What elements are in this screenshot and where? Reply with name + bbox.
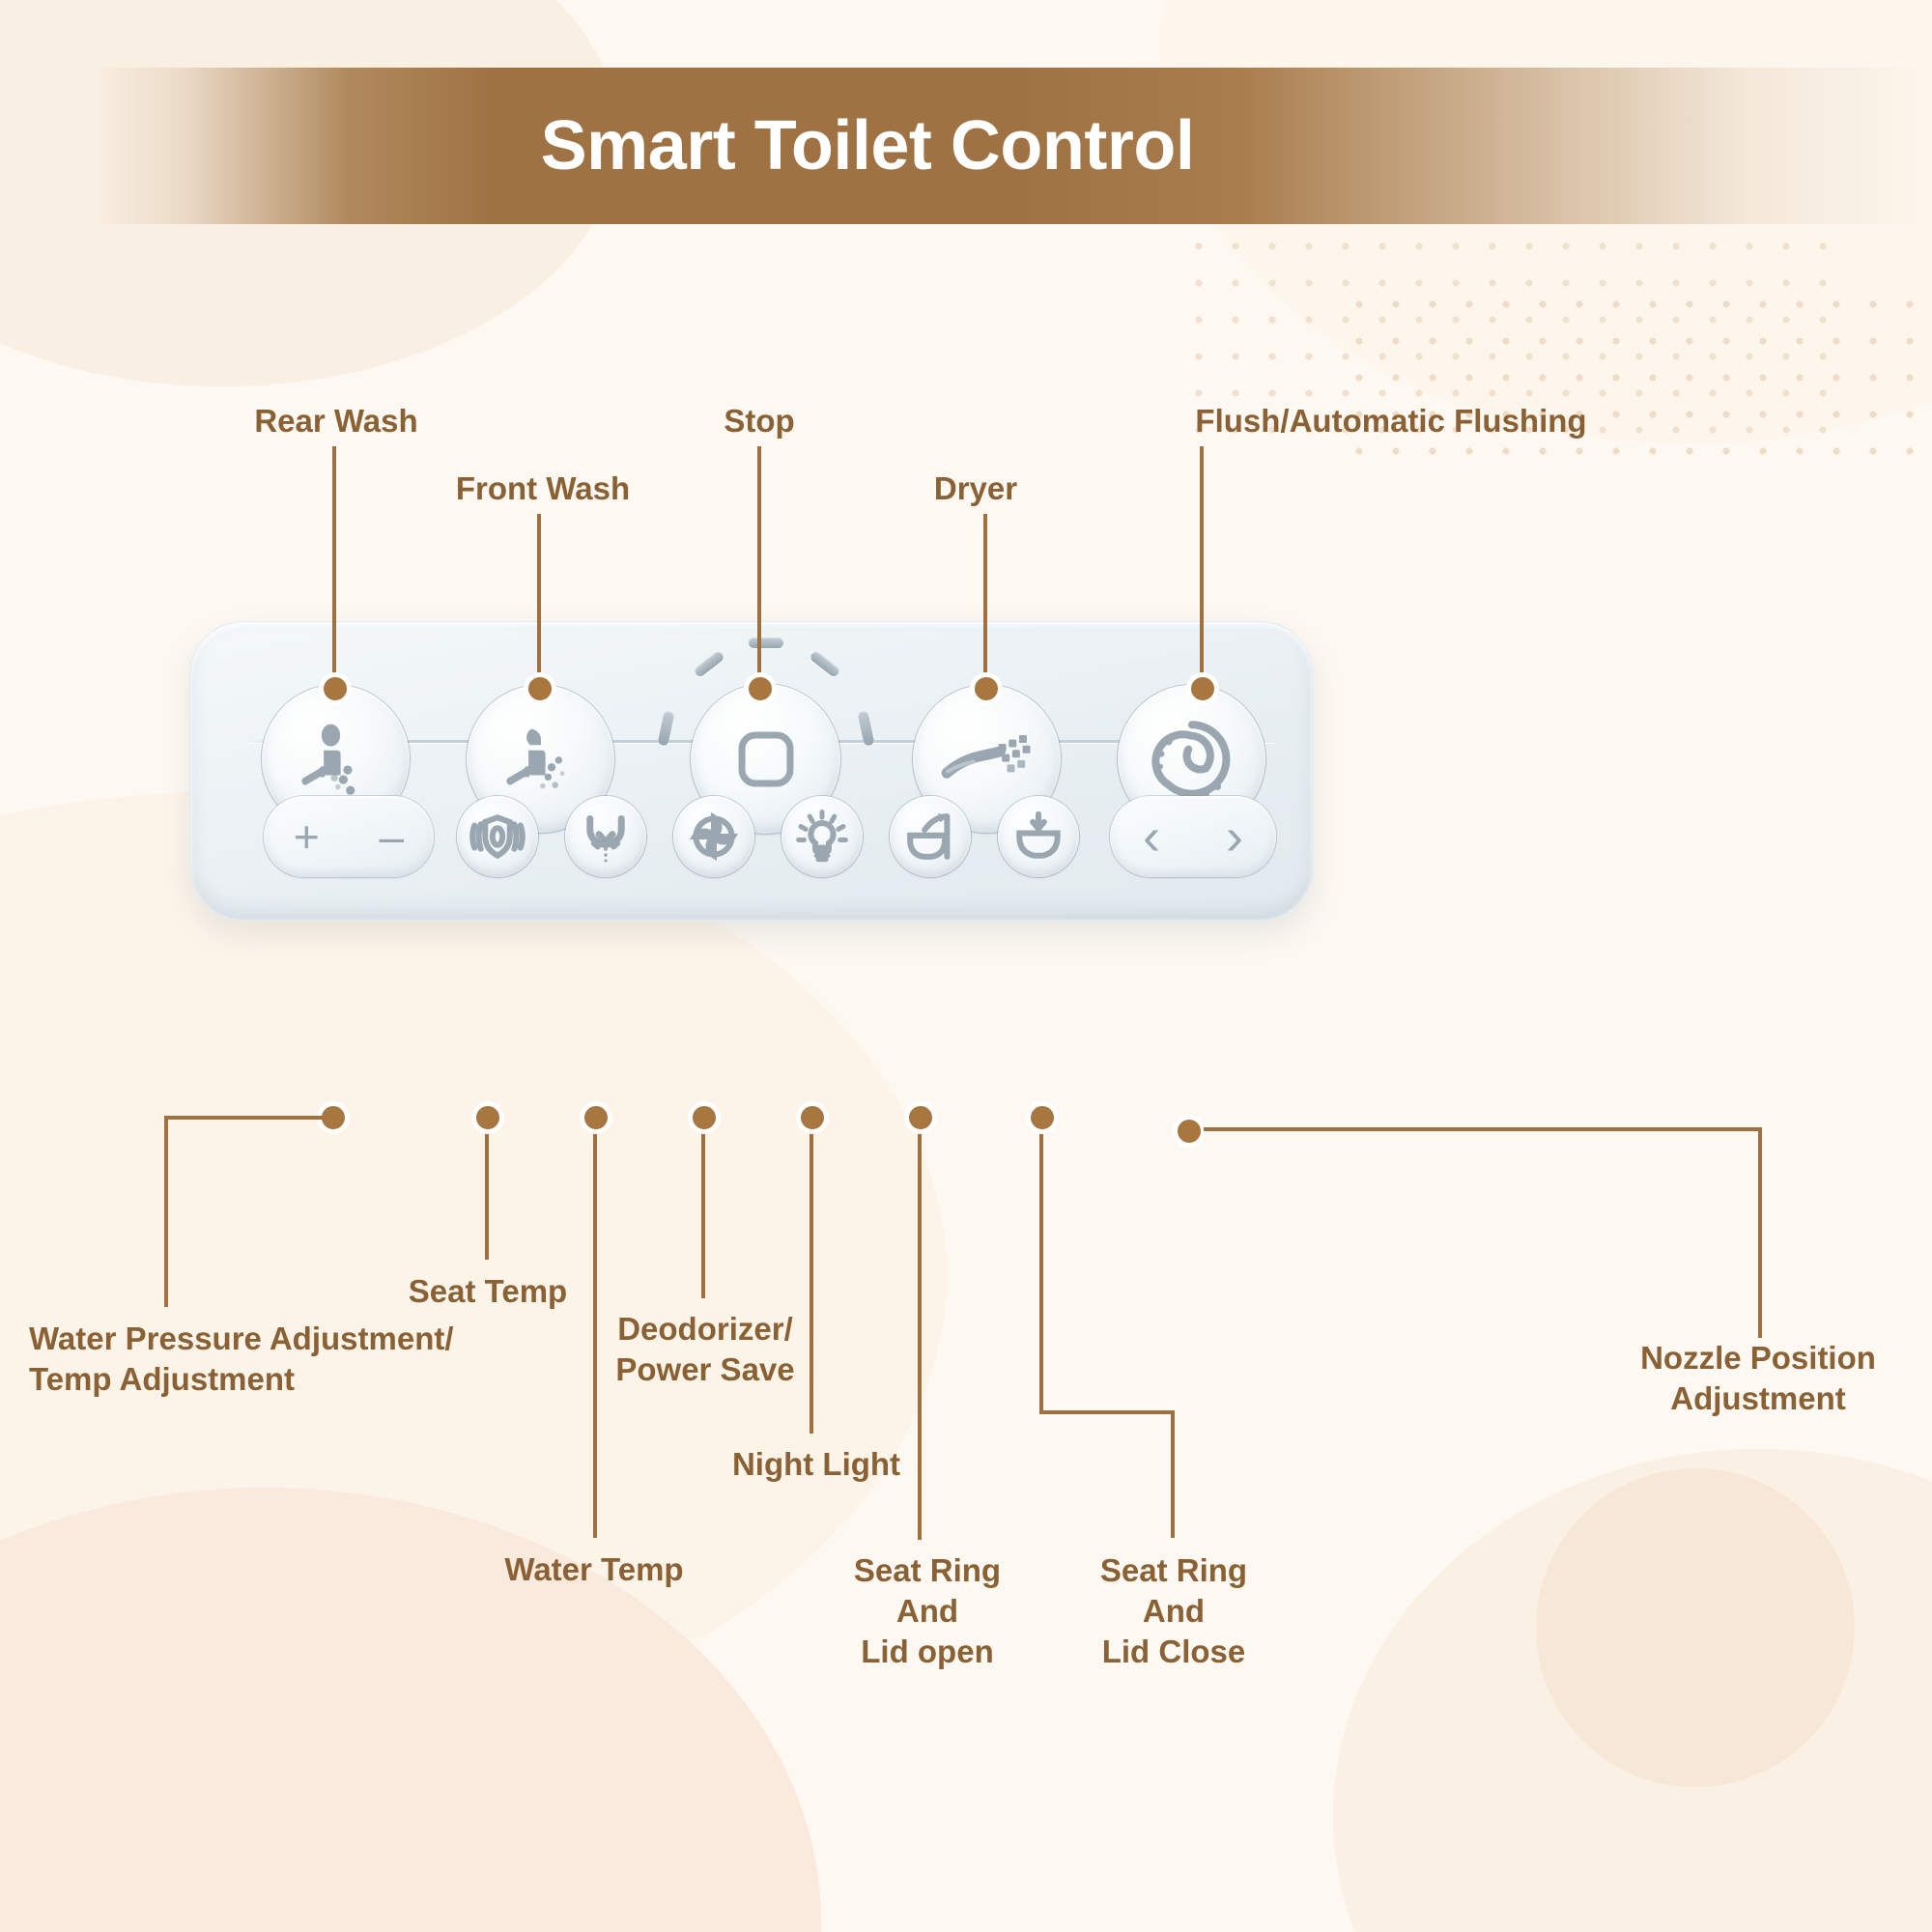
callout-line-seat-temp <box>485 1134 489 1260</box>
fan-blades-circle-icon <box>686 809 742 865</box>
button-water-temp[interactable] <box>565 796 646 877</box>
callout-label-water-temp: Water Temp <box>435 1549 753 1590</box>
callout-line-flush <box>1200 446 1204 686</box>
callout-dot-stop <box>744 672 777 705</box>
callout-dot-deodorizer <box>688 1101 721 1134</box>
callout-label-night-light: Night Light <box>657 1444 976 1485</box>
callout-label-flush: Flush/Automatic Flushing <box>976 401 1806 441</box>
swirl-flush-icon <box>1147 714 1237 805</box>
callout-dot-seat-lid-close <box>1026 1101 1059 1134</box>
callout-label-seat-lid-close: Seat Ring And Lid Close <box>1019 1550 1328 1673</box>
page-title: Smart Toilet Control <box>541 106 1195 185</box>
callout-line-front-wash <box>537 514 541 686</box>
button-deodorizer[interactable] <box>673 796 754 877</box>
callout-label-stop: Stop <box>628 401 891 441</box>
plus-icon[interactable]: + <box>294 814 320 859</box>
bg-circle-bottom-right <box>1536 1468 1855 1787</box>
callout-label-rear-wash: Rear Wash <box>153 401 520 441</box>
light-bulb-rays-icon <box>794 809 850 865</box>
seated-figure-front-spray-icon <box>497 715 585 804</box>
button-seat-lid-close[interactable] <box>998 796 1079 877</box>
minus-icon[interactable]: – <box>380 814 405 859</box>
stop-tick-upper-left <box>693 650 725 679</box>
water-temp-seat-drops-icon <box>578 809 634 865</box>
callout-vline-water-pressure <box>164 1116 168 1307</box>
callout-vline-nozzle-position <box>1758 1127 1762 1338</box>
button-nozzle-position[interactable]: ‹ › <box>1110 796 1276 877</box>
title-banner: Smart Toilet Control <box>93 68 1932 224</box>
callout-line-stop <box>757 446 761 686</box>
button-seat-lid-open[interactable] <box>890 796 971 877</box>
callout-vline2-seat-lid-close <box>1171 1410 1175 1538</box>
callout-dot-water-temp <box>580 1101 612 1134</box>
callout-label-dryer: Dryer <box>802 469 1150 509</box>
callout-line-deodorizer <box>701 1134 705 1298</box>
callout-dot-seat-temp <box>471 1101 504 1134</box>
callout-dot-front-wash <box>524 672 556 705</box>
chevron-right-icon[interactable]: › <box>1226 810 1243 863</box>
callout-hline-seat-lid-close <box>1039 1410 1175 1414</box>
callout-dot-nozzle-position <box>1173 1115 1206 1148</box>
button-seat-temp[interactable] <box>457 796 538 877</box>
callout-hline-nozzle-position <box>1204 1127 1762 1131</box>
callout-dot-flush <box>1186 672 1219 705</box>
callout-label-front-wash: Front Wash <box>359 469 726 509</box>
callout-label-water-pressure: Water Pressure Adjustment/ Temp Adjustme… <box>29 1319 628 1400</box>
callout-line-rear-wash <box>332 446 336 686</box>
toilet-lid-up-arrow-icon <box>902 809 958 865</box>
heated-seat-shield-icon <box>469 809 526 865</box>
stop-tick-top <box>749 638 783 648</box>
callout-line-night-light <box>810 1134 813 1434</box>
seated-figure-rear-spray-icon <box>292 715 381 804</box>
toilet-lid-down-arrow-icon <box>1010 809 1066 865</box>
rounded-square-stop-icon <box>728 722 804 797</box>
callout-hline-water-pressure <box>164 1116 323 1120</box>
smart-toilet-remote-panel: + – <box>189 621 1314 921</box>
button-pressure-temp-adjust[interactable]: + – <box>264 796 434 877</box>
button-night-light[interactable] <box>781 796 863 877</box>
callout-line-dryer <box>983 514 987 686</box>
bg-dot-pattern-lower <box>1341 286 1932 469</box>
warm-air-dryer-icon <box>940 712 1035 807</box>
callout-dot-night-light <box>796 1101 829 1134</box>
callout-label-deodorizer: Deodorizer/ Power Save <box>541 1309 869 1390</box>
callout-label-nozzle-position: Nozzle Position Adjustment <box>1546 1338 1932 1419</box>
callout-label-seat-temp: Seat Temp <box>328 1271 647 1312</box>
callout-dot-dryer <box>970 672 1003 705</box>
callout-line-seat-lid-open <box>918 1134 922 1540</box>
stop-tick-upper-right <box>809 650 841 679</box>
callout-dot-rear-wash <box>319 672 352 705</box>
callout-vline-seat-lid-close <box>1039 1134 1043 1414</box>
callout-dot-seat-lid-open <box>904 1101 937 1134</box>
chevron-left-icon[interactable]: ‹ <box>1143 810 1160 863</box>
